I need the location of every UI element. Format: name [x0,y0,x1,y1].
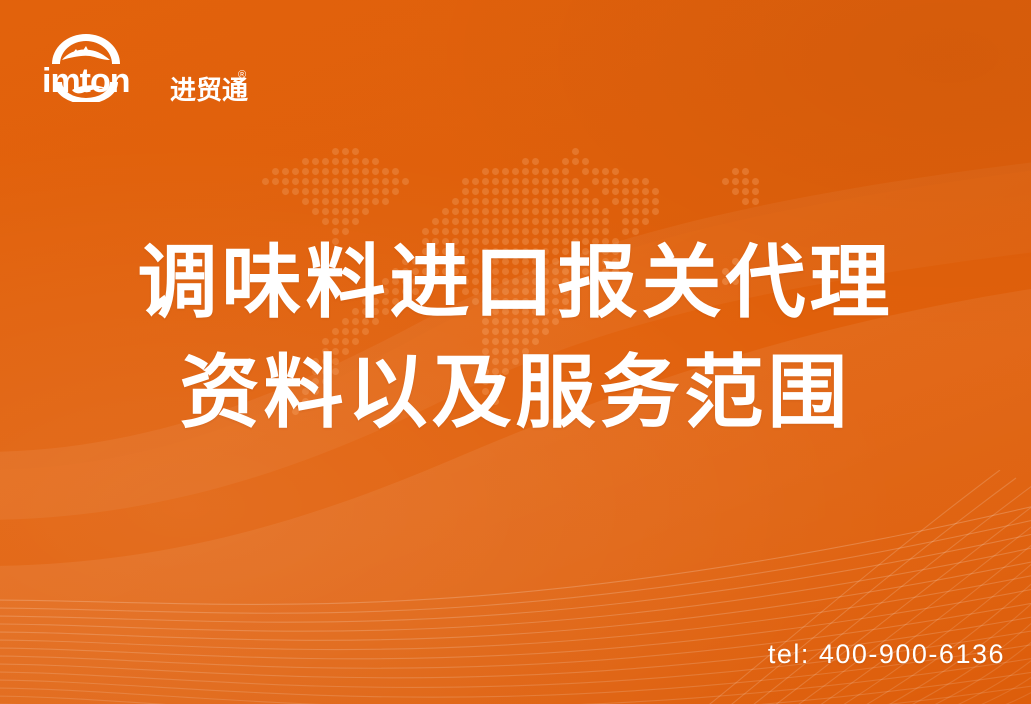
map-dot [322,158,329,165]
map-dot [572,198,579,205]
map-dot [652,208,659,215]
map-dot [522,198,529,205]
map-dot [312,178,319,185]
map-dot [342,188,349,195]
map-dot [352,218,359,225]
map-dot [332,178,339,185]
map-dot [752,198,759,205]
map-dot [522,158,529,165]
map-dot [562,218,569,225]
map-dot [462,198,469,205]
map-dot [452,218,459,225]
map-dot [572,218,579,225]
map-dot [492,178,499,185]
map-dot [572,188,579,195]
map-dot [522,218,529,225]
map-dot [552,198,559,205]
map-dot [292,188,299,195]
map-dot [482,168,489,175]
map-dot [572,148,579,155]
logo-chinese-name: 进贸通 [170,76,248,104]
map-dot [522,188,529,195]
map-dot [322,188,329,195]
map-dot [602,168,609,175]
map-dot [532,168,539,175]
map-dot [632,218,639,225]
map-dot [532,218,539,225]
headline-line-1: 调味料进口报关代理 [0,228,1031,338]
map-dot [342,218,349,225]
map-dot [532,178,539,185]
map-dot [592,198,599,205]
map-dot [342,168,349,175]
map-dot [502,178,509,185]
map-dot [612,178,619,185]
map-dot [622,208,629,215]
map-dot [512,208,519,215]
map-dot [572,178,579,185]
map-dot [452,198,459,205]
map-dot [522,178,529,185]
map-dot [352,178,359,185]
map-dot [512,198,519,205]
map-dot [352,208,359,215]
map-dot [652,198,659,205]
map-dot [602,218,609,225]
map-dot [552,178,559,185]
map-dot [342,178,349,185]
map-dot [512,178,519,185]
map-dot [562,208,569,215]
map-dot [332,158,339,165]
map-dot [612,188,619,195]
map-dot [352,148,359,155]
imton-logo[interactable]: imton 进贸通 ® [42,30,242,102]
map-dot [562,168,569,175]
map-dot [612,168,619,175]
map-dot [502,198,509,205]
map-dot [382,178,389,185]
map-dot [462,178,469,185]
map-dot [382,168,389,175]
map-dot [492,218,499,225]
map-dot [642,188,649,195]
map-dot [352,158,359,165]
map-dot [362,178,369,185]
map-dot [722,178,729,185]
map-dot [562,178,569,185]
map-dot [602,188,609,195]
map-dot [282,178,289,185]
map-dot [582,188,589,195]
map-dot [362,168,369,175]
map-dot [592,168,599,175]
map-dot [622,178,629,185]
headline-block: 调味料进口报关代理 资料以及服务范围 [0,228,1031,448]
map-dot [432,218,439,225]
map-dot [292,168,299,175]
map-dot [532,198,539,205]
map-dot [312,208,319,215]
map-dot [612,198,619,205]
map-dot [322,208,329,215]
map-dot [392,188,399,195]
map-dot [472,198,479,205]
map-dot [542,198,549,205]
map-dot [362,208,369,215]
map-dot [502,168,509,175]
map-dot [732,178,739,185]
map-dot [752,178,759,185]
map-dot [492,208,499,215]
map-dot [502,208,509,215]
map-dot [462,218,469,225]
map-dot [512,188,519,195]
registered-trademark-icon: ® [238,70,246,81]
map-dot [312,168,319,175]
map-dot [502,188,509,195]
map-dot [362,198,369,205]
map-dot [302,158,309,165]
map-dot [542,168,549,175]
map-dot [592,218,599,225]
map-dot [572,158,579,165]
map-dot [382,188,389,195]
map-dot [552,218,559,225]
map-dot [732,188,739,195]
map-dot [312,188,319,195]
map-dot [482,188,489,195]
map-dot [272,168,279,175]
map-dot [482,218,489,225]
map-dot [482,178,489,185]
map-dot [592,208,599,215]
map-dot [602,178,609,185]
map-dot [462,208,469,215]
map-dot [322,198,329,205]
phone-number[interactable]: tel: 400-900-6136 [768,639,1005,670]
map-dot [742,198,749,205]
map-dot [562,158,569,165]
map-dot [542,218,549,225]
map-dot [622,198,629,205]
map-dot [622,218,629,225]
map-dot [512,218,519,225]
map-dot [532,188,539,195]
map-dot [392,178,399,185]
map-dot [632,198,639,205]
map-dot [332,188,339,195]
map-dot [312,198,319,205]
map-dot [492,188,499,195]
map-dot [632,208,639,215]
map-dot [742,188,749,195]
map-dot [342,198,349,205]
map-dot [322,218,329,225]
map-dot [582,168,589,175]
map-dot [562,198,569,205]
map-dot [542,188,549,195]
map-dot [362,188,369,195]
map-dot [472,208,479,215]
map-dot [562,188,569,195]
svg-text:imton: imton [42,62,130,100]
map-dot [642,198,649,205]
map-dot [302,178,309,185]
promo-banner: imton 进贸通 ® 调味料进口报关代理 资料以及服务范围 tel: 400-… [0,0,1031,704]
map-dot [522,168,529,175]
map-dot [372,168,379,175]
map-dot [462,188,469,195]
map-dot [512,168,519,175]
map-dot [632,188,639,195]
map-dot [582,218,589,225]
map-dot [642,208,649,215]
map-dot [332,218,339,225]
map-dot [752,188,759,195]
map-dot [372,188,379,195]
map-dot [602,208,609,215]
map-dot [732,168,739,175]
map-dot [402,178,409,185]
globe-with-bird-icon: imton [42,30,164,102]
map-dot [282,168,289,175]
map-dot [522,208,529,215]
map-dot [452,208,459,215]
map-dot [552,188,559,195]
map-dot [302,188,309,195]
map-dot [592,178,599,185]
map-dot [532,158,539,165]
map-dot [332,198,339,205]
map-dot [582,208,589,215]
map-dot [382,198,389,205]
map-dot [352,198,359,205]
map-dot [542,178,549,185]
map-dot [742,168,749,175]
map-dot [472,178,479,185]
map-dot [362,158,369,165]
headline-line-2: 资料以及服务范围 [0,338,1031,448]
map-dot [442,218,449,225]
map-dot [552,168,559,175]
map-dot [322,178,329,185]
map-dot [642,218,649,225]
map-dot [282,188,289,195]
map-dot [372,198,379,205]
map-dot [332,208,339,215]
map-dot [322,168,329,175]
map-dot [492,198,499,205]
map-dot [342,158,349,165]
map-dot [342,208,349,215]
map-dot [302,168,309,175]
map-dot [742,178,749,185]
map-dot [302,198,309,205]
map-dot [292,178,299,185]
map-dot [582,158,589,165]
map-dot [482,198,489,205]
map-dot [342,148,349,155]
map-dot [312,158,319,165]
map-dot [622,188,629,195]
map-dot [572,208,579,215]
map-dot [532,208,539,215]
map-dot [642,178,649,185]
map-dot [552,208,559,215]
map-dot [392,168,399,175]
map-dot [492,168,499,175]
map-dot [582,198,589,205]
map-dot [352,168,359,175]
map-dot [332,148,339,155]
map-dot [352,188,359,195]
map-dot [482,208,489,215]
map-dot [372,158,379,165]
map-dot [272,178,279,185]
map-dot [632,178,639,185]
map-dot [652,188,659,195]
map-dot [332,168,339,175]
map-dot [442,208,449,215]
map-dot [542,208,549,215]
map-dot [502,218,509,225]
map-dot [472,218,479,225]
map-dot [472,188,479,195]
map-dot [372,178,379,185]
map-dot [262,178,269,185]
